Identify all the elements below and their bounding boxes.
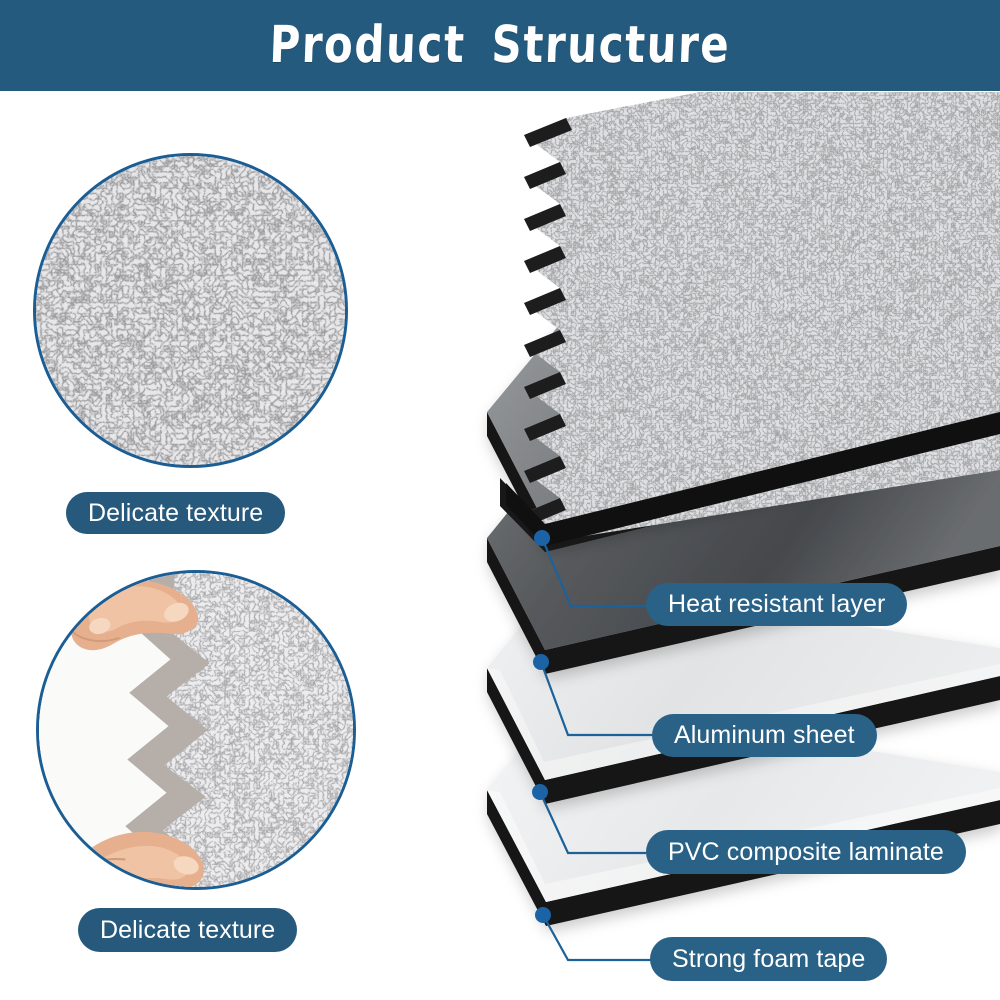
label-text: PVC composite laminate — [668, 838, 944, 867]
label-strong-foam-tape[interactable]: Strong foam tape — [650, 937, 887, 981]
label-text: Heat resistant layer — [668, 590, 885, 619]
label-text: Delicate texture — [88, 499, 263, 528]
label-heat-resistant-layer[interactable]: Heat resistant layer — [646, 583, 907, 626]
label-aluminum-sheet[interactable]: Aluminum sheet — [652, 714, 877, 757]
label-delicate-texture-bottom[interactable]: Delicate texture — [78, 908, 297, 952]
label-delicate-texture-top[interactable]: Delicate texture — [66, 492, 285, 534]
label-text: Aluminum sheet — [674, 721, 855, 750]
label-text: Strong foam tape — [672, 945, 865, 974]
label-text: Delicate texture — [100, 916, 275, 945]
product-structure-infographic: Product Structure — [0, 0, 1000, 1000]
label-pvc-composite-laminate[interactable]: PVC composite laminate — [646, 830, 966, 874]
